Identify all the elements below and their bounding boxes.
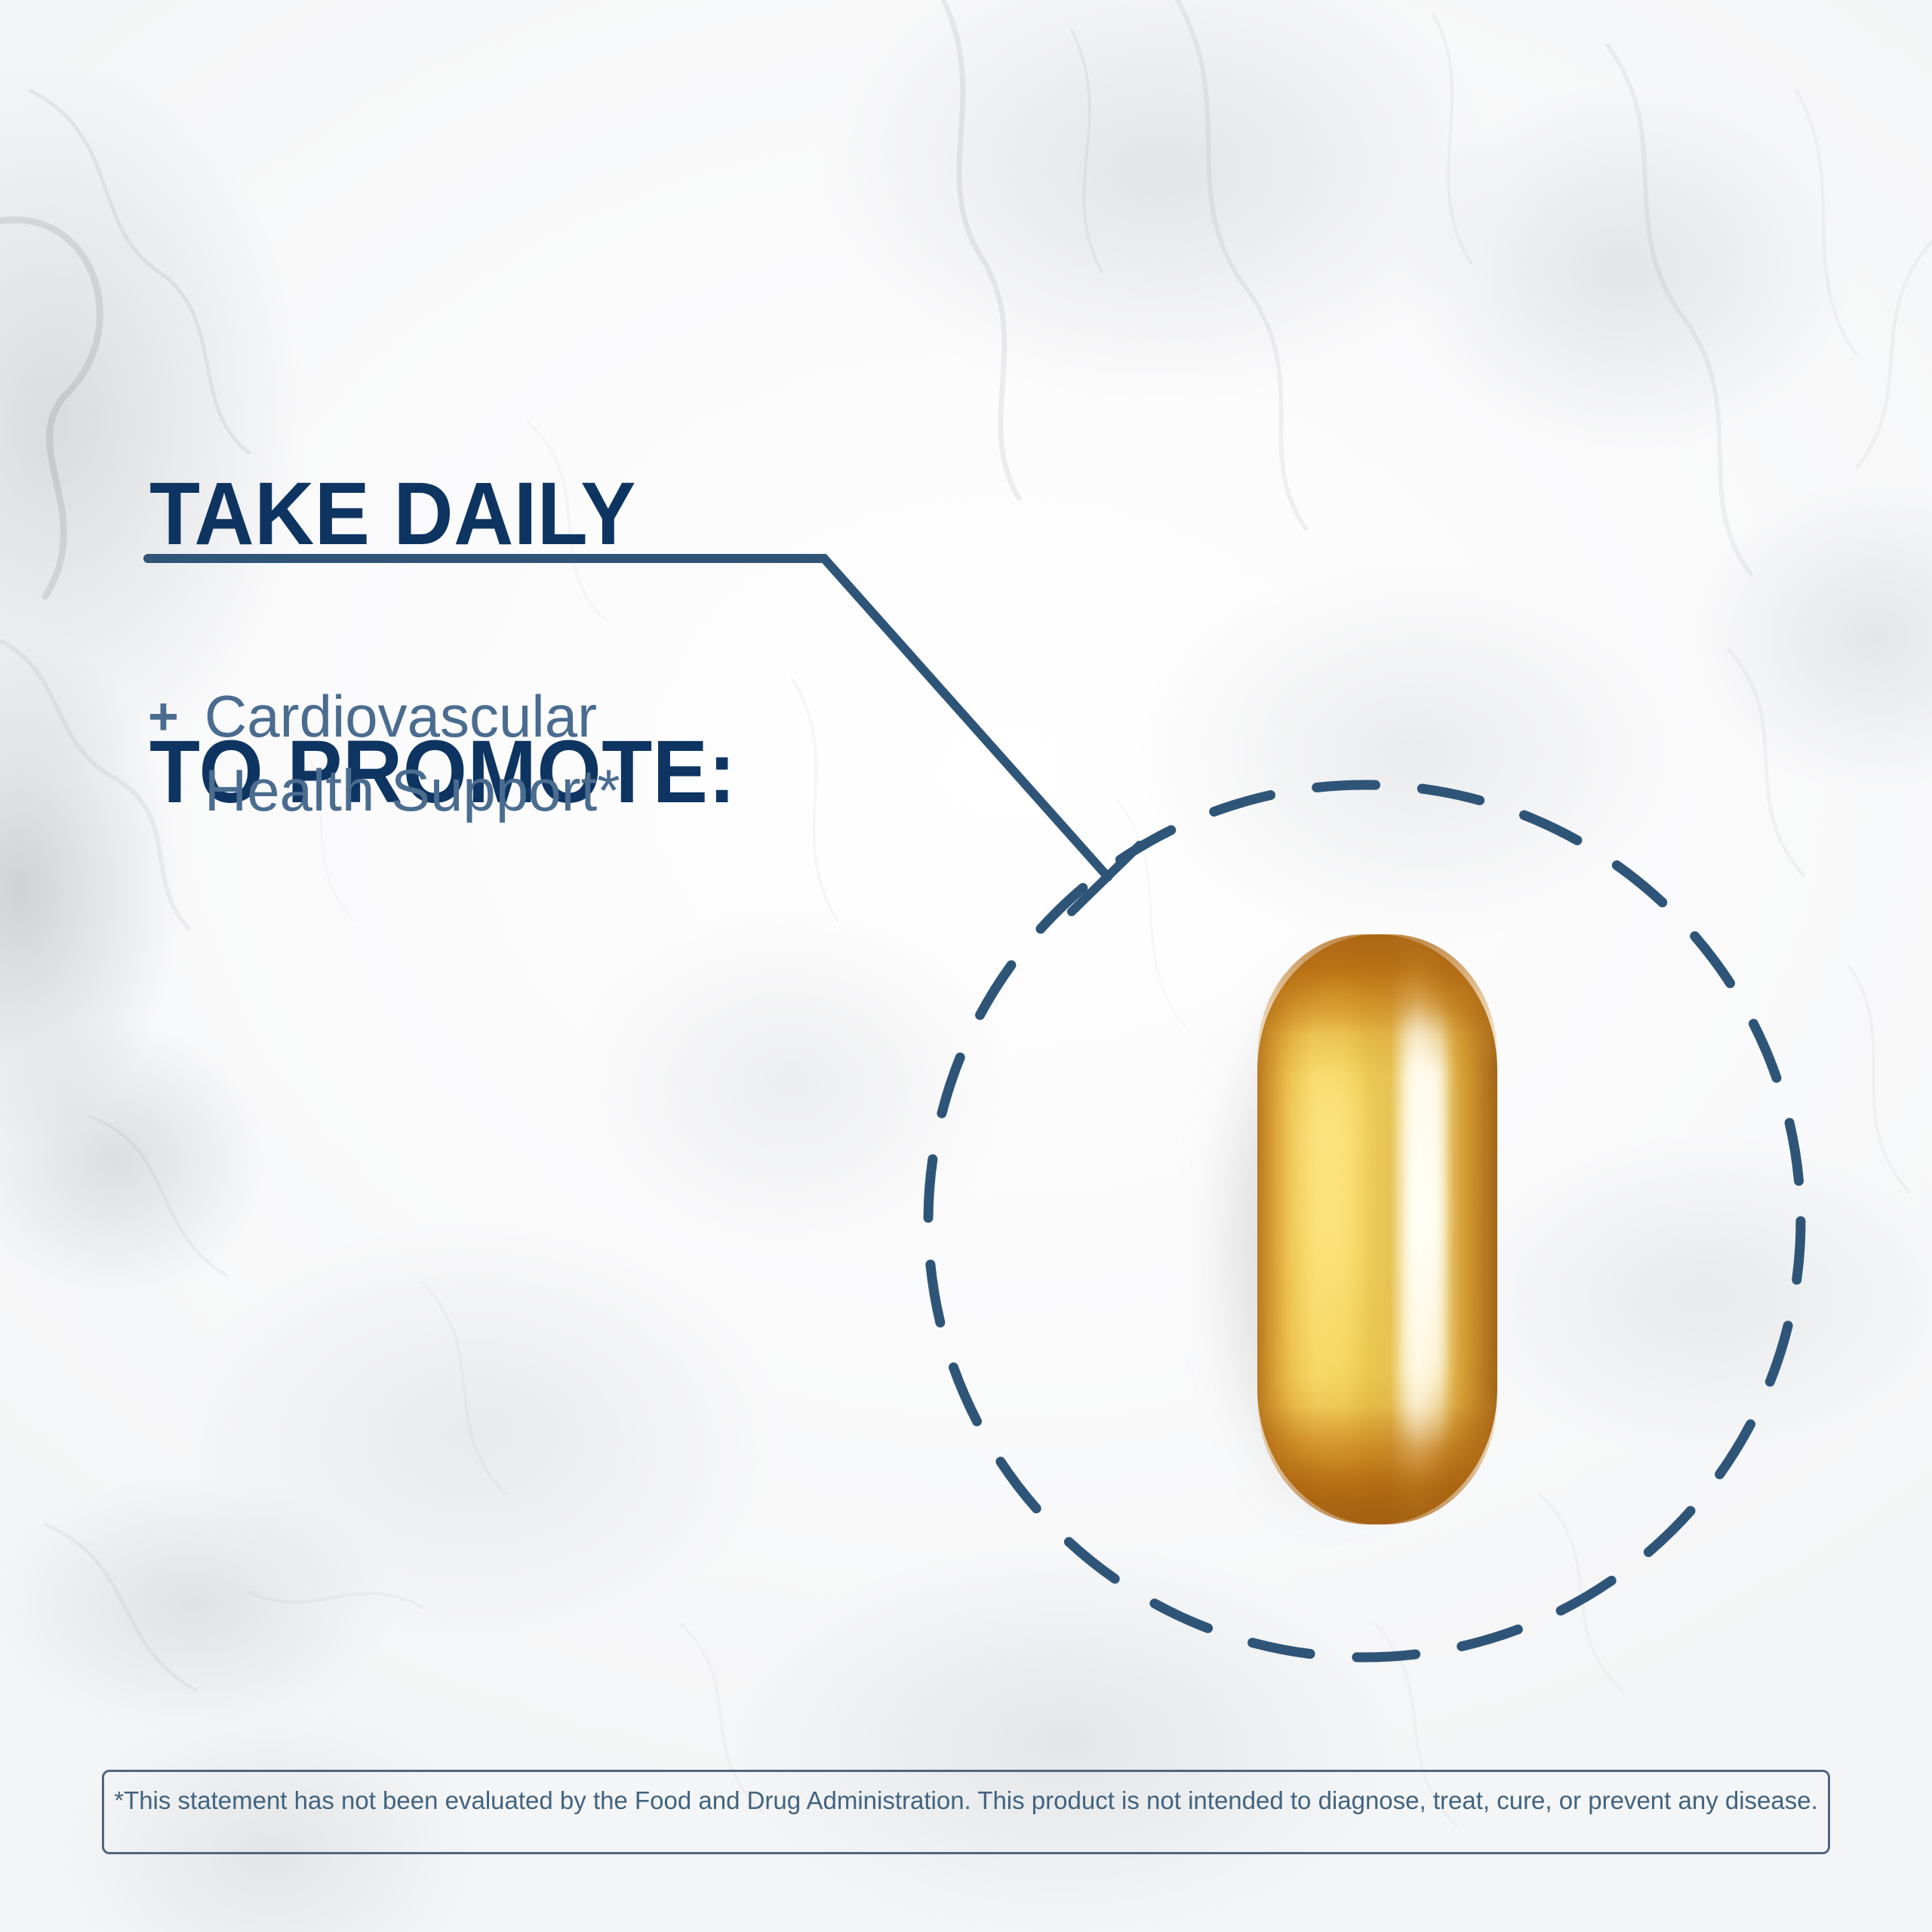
disclaimer-box: *This statement has not been evaluated b…	[102, 1770, 1830, 1854]
benefit-item-cardiovascular: + Cardiovascular Health Support*	[148, 679, 620, 827]
benefit-label: Cardiovascular Health Support*	[205, 679, 620, 827]
headline: TAKE DAILY TO PROMOTE:	[149, 299, 736, 987]
softgel-soft-glow	[1300, 1040, 1363, 1395]
product-benefit-graphic: TAKE DAILY TO PROMOTE: + Cardiovascular …	[0, 0, 1932, 1932]
headline-line-1: TAKE DAILY	[149, 471, 736, 557]
softgel-specular-highlight	[1405, 1004, 1446, 1452]
plus-icon: +	[148, 679, 179, 753]
disclaimer-text: *This statement has not been evaluated b…	[114, 1786, 1818, 1816]
softgel-capsule-icon	[1244, 934, 1500, 1531]
softgel-top-shading	[1257, 934, 1497, 1078]
softgel-body	[1257, 934, 1497, 1524]
